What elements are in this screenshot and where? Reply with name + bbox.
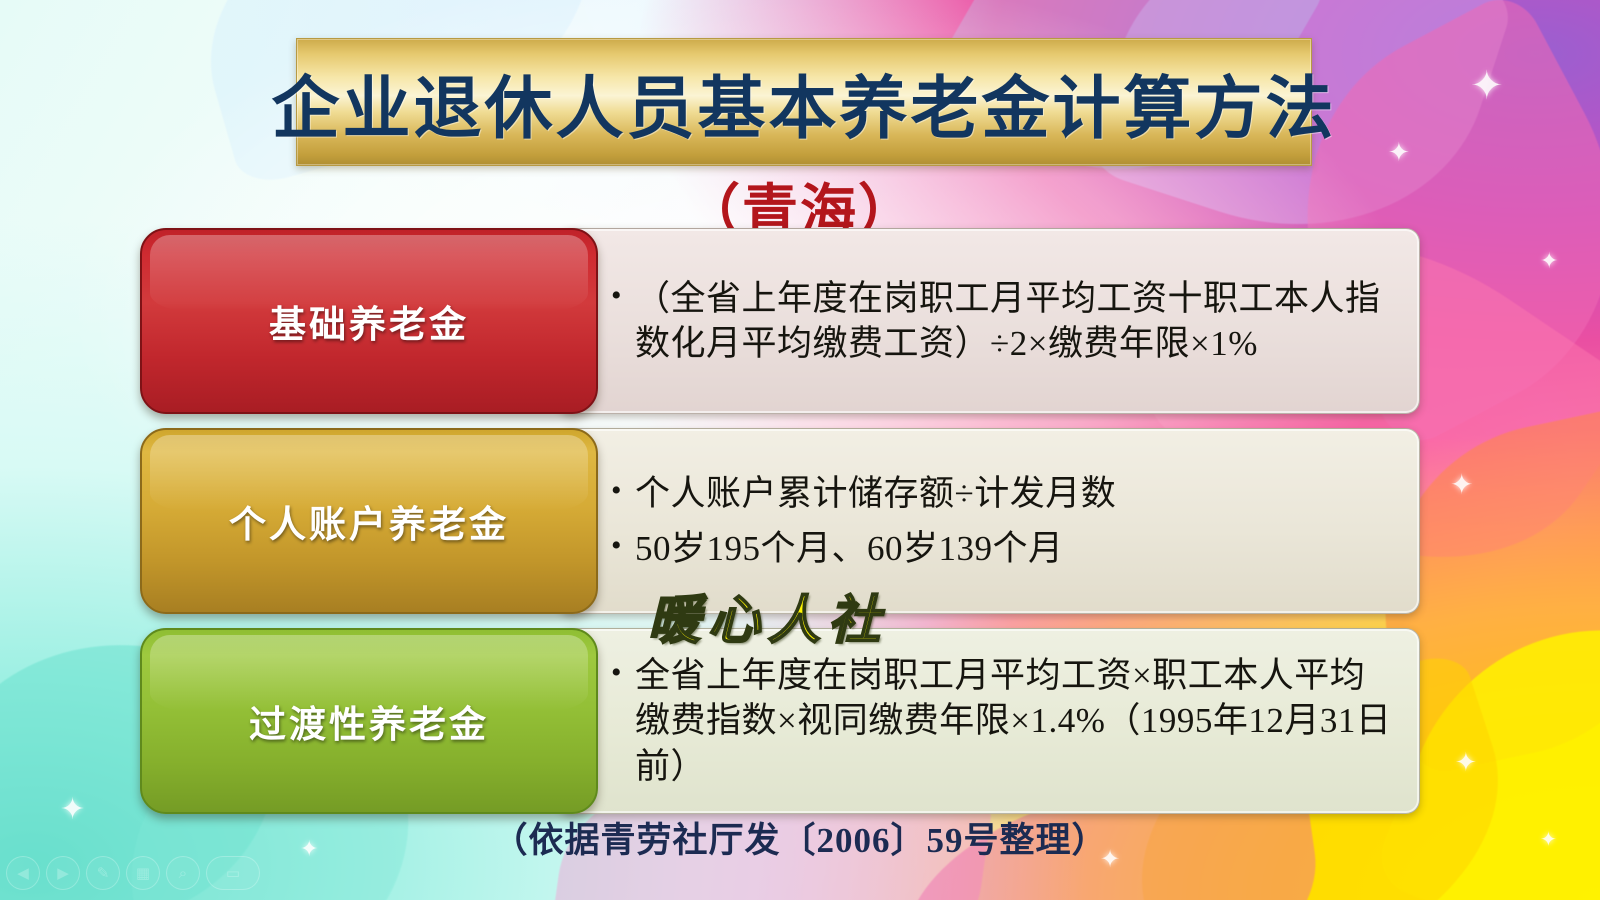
formula-text: （全省上年度在岗职工月平均工资十职工本人指数化月平均缴费工资）÷2×缴费年限×1… [635, 276, 1399, 367]
bullet-dot-icon: • [611, 471, 635, 512]
page-title: 企业退休人员基本养老金计算方法 [272, 53, 1337, 152]
slide-grid-icon[interactable]: ▦ [126, 856, 160, 890]
label-text: 基础养老金 [269, 294, 469, 348]
previous-slide-icon[interactable]: ◀ [6, 856, 40, 890]
label-box-basic-pension[interactable]: 基础养老金 [140, 228, 598, 414]
presentation-slide: ✦ ✦ ✦ ✦ ✦ ✦ ✦ ✦ ✦ ✦ 企业退休人员基本养老金计算方法 （青海）… [0, 0, 1600, 900]
months-note-text: 50岁195个月、60岁139个月 [635, 526, 1399, 572]
bullet-dot-icon: • [611, 653, 635, 694]
presentation-toolbar[interactable]: ◀ ▶ ✎ ▦ ⌕ ▭ [6, 856, 260, 890]
list-item: • 个人账户累计储存额÷计发月数 [611, 471, 1399, 517]
pension-row-basic: 基础养老金 • （全省上年度在岗职工月平均工资十职工本人指数化月平均缴费工资）÷… [140, 228, 1420, 414]
label-box-transitional-pension[interactable]: 过渡性养老金 [140, 628, 598, 814]
bullet-dot-icon: • [611, 526, 635, 567]
source-note: （依据青劳社厅发〔2006〕59号整理） [492, 821, 1107, 860]
sparkle-icon: ✦ [1388, 140, 1410, 166]
bullet-list: • 个人账户累计储存额÷计发月数 • 50岁195个月、60岁139个月 [611, 471, 1399, 572]
pen-icon[interactable]: ✎ [86, 856, 120, 890]
formula-panel-transitional-pension: • 全省上年度在岗职工月平均工资×职工本人平均缴费指数×视同缴费年限×1.4%（… [558, 628, 1420, 814]
bullet-list: • 全省上年度在岗职工月平均工资×职工本人平均缴费指数×视同缴费年限×1.4%（… [611, 653, 1399, 790]
bullet-dot-icon: • [611, 276, 635, 317]
sparkle-icon: ✦ [1540, 250, 1558, 272]
list-item: • 50岁195个月、60岁139个月 [611, 526, 1399, 572]
list-item: • 全省上年度在岗职工月平均工资×职工本人平均缴费指数×视同缴费年限×1.4%（… [611, 653, 1399, 790]
label-text: 过渡性养老金 [249, 694, 489, 748]
bullet-list: • （全省上年度在岗职工月平均工资十职工本人指数化月平均缴费工资）÷2×缴费年限… [611, 276, 1399, 367]
sparkle-icon: ✦ [1455, 750, 1477, 776]
sparkle-icon: ✦ [1450, 472, 1473, 500]
next-slide-icon[interactable]: ▶ [46, 856, 80, 890]
list-item: • （全省上年度在岗职工月平均工资十职工本人指数化月平均缴费工资）÷2×缴费年限… [611, 276, 1399, 367]
more-options-icon[interactable]: ▭ [206, 856, 260, 890]
pension-row-transitional: 过渡性养老金 • 全省上年度在岗职工月平均工资×职工本人平均缴费指数×视同缴费年… [140, 628, 1420, 814]
formula-text: 全省上年度在岗职工月平均工资×职工本人平均缴费指数×视同缴费年限×1.4%（19… [635, 653, 1399, 790]
label-box-personal-account-pension[interactable]: 个人账户养老金 [140, 428, 598, 614]
zoom-icon[interactable]: ⌕ [166, 856, 200, 890]
formula-text: 个人账户累计储存额÷计发月数 [635, 471, 1399, 517]
watermark-text: 暖心人社 [648, 578, 888, 653]
label-text: 个人账户养老金 [229, 494, 509, 548]
formula-panel-basic-pension: • （全省上年度在岗职工月平均工资十职工本人指数化月平均缴费工资）÷2×缴费年限… [558, 228, 1420, 414]
sparkle-icon: ✦ [1470, 66, 1504, 106]
title-banner: 企业退休人员基本养老金计算方法 [296, 38, 1312, 166]
